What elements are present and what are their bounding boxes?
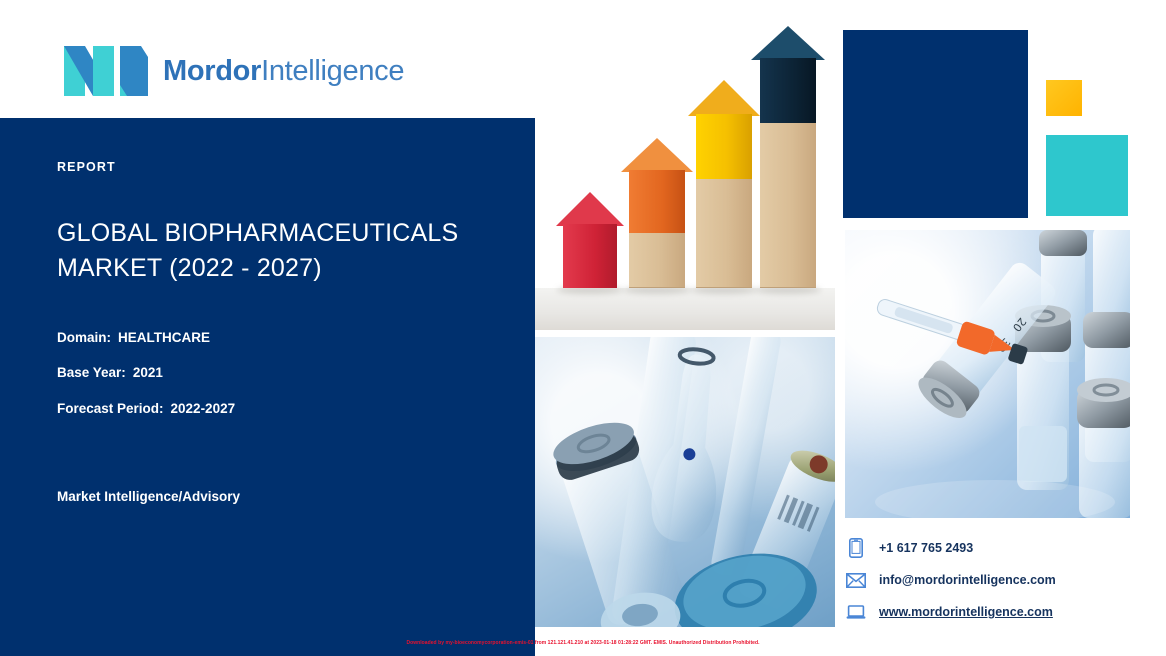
brand-logo: MordorIntelligence — [63, 45, 404, 97]
contact-email-text: info@mordorintelligence.com — [879, 573, 1056, 587]
contact-website-text[interactable]: www.mordorintelligence.com — [879, 605, 1053, 619]
meta-base-year-label: Base Year: — [57, 365, 126, 380]
meta-forecast-value: 2022-2027 — [171, 401, 236, 416]
vials-photo: 20 30 — [845, 230, 1130, 518]
house-body — [696, 114, 752, 180]
wood-block — [696, 233, 752, 288]
house-body — [563, 224, 617, 288]
advisory-line: Market Intelligence/Advisory — [57, 489, 240, 504]
laptop-icon — [845, 602, 867, 622]
wood-block — [760, 177, 816, 233]
house-body — [760, 58, 816, 124]
contact-email-row[interactable]: info@mordorintelligence.com — [845, 566, 1056, 594]
meta-domain-value: HEALTHCARE — [118, 330, 210, 345]
block-house — [691, 82, 757, 288]
meta-forecast-period: Forecast Period:2022-2027 — [57, 401, 235, 416]
block-house — [755, 26, 821, 288]
mordor-m-logo-icon — [63, 45, 149, 97]
meta-forecast-label: Forecast Period: — [57, 401, 164, 416]
teal-swatch — [1046, 135, 1128, 216]
brand-name-bold: Mordor — [163, 55, 261, 87]
download-watermark: Downloaded by my-bioeconomycorporation-e… — [0, 640, 1166, 646]
glassware-illustration — [535, 337, 835, 627]
block-house — [557, 192, 623, 288]
report-kicker: REPORT — [57, 160, 116, 174]
block-house — [623, 138, 691, 288]
meta-domain: Domain:HEALTHCARE — [57, 330, 210, 345]
amber-swatch — [1046, 80, 1082, 116]
contact-website-row[interactable]: www.mordorintelligence.com — [845, 598, 1056, 626]
house-roof — [621, 138, 693, 172]
meta-base-year-value: 2021 — [133, 365, 163, 380]
vials-illustration: 20 30 — [845, 230, 1130, 518]
contact-block: +1 617 765 2493 info@mordorintelligence.… — [845, 534, 1056, 630]
brand-name-light: Intelligence — [261, 55, 404, 87]
house-roof — [556, 192, 624, 226]
glassware-photo — [535, 337, 835, 627]
meta-domain-label: Domain: — [57, 330, 111, 345]
contact-phone-text: +1 617 765 2493 — [879, 541, 973, 555]
blocks-photo — [535, 20, 835, 330]
wood-block — [760, 232, 816, 288]
page-title: GLOBAL BIOPHARMACEUTICALS MARKET (2022 -… — [57, 216, 487, 285]
mobile-phone-icon — [845, 538, 867, 558]
wood-block — [760, 123, 816, 178]
brand-wordmark: MordorIntelligence — [163, 55, 404, 88]
house-body — [629, 170, 685, 234]
house-roof — [688, 80, 760, 116]
wood-block — [629, 233, 685, 288]
meta-base-year: Base Year:2021 — [57, 365, 163, 380]
house-roof — [751, 26, 825, 60]
contact-phone-row[interactable]: +1 617 765 2493 — [845, 534, 1056, 562]
wood-block — [696, 179, 752, 234]
envelope-icon — [845, 570, 867, 590]
report-panel — [0, 118, 535, 656]
navy-swatch — [843, 30, 1028, 218]
photo-floor — [535, 288, 835, 330]
